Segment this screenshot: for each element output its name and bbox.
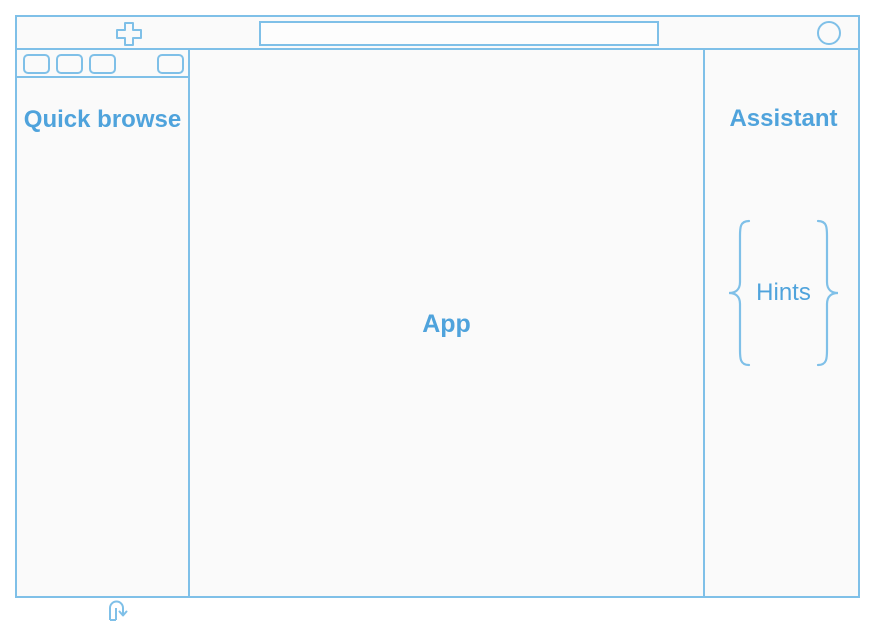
u-turn-arrow-icon[interactable]: [103, 595, 133, 625]
sidebar-title: Quick browse: [17, 105, 188, 135]
sidebar-tab-3[interactable]: [89, 54, 116, 74]
main-app-panel: App: [190, 50, 705, 598]
sidebar-tab-1[interactable]: [23, 54, 50, 74]
wireframe-window: Quick browse App Assistant Hints: [15, 15, 860, 598]
sidebar-tab-4[interactable]: [157, 54, 184, 74]
assistant-panel: Assistant Hints: [705, 50, 862, 598]
sidebar-tab-2[interactable]: [56, 54, 83, 74]
main-app-label: App: [190, 50, 703, 598]
avatar-circle-icon[interactable]: [817, 21, 841, 45]
top-toolbar: [17, 17, 858, 50]
left-brace-icon: [726, 218, 752, 368]
sidebar-panel: Quick browse: [17, 50, 190, 598]
hints-block: Hints: [705, 215, 862, 370]
sidebar-tab-bar: [17, 50, 188, 78]
hints-label: Hints: [752, 279, 815, 307]
plus-icon[interactable]: [113, 21, 145, 47]
right-brace-icon: [815, 218, 841, 368]
assistant-title: Assistant: [705, 105, 862, 133]
search-input[interactable]: [259, 21, 659, 46]
